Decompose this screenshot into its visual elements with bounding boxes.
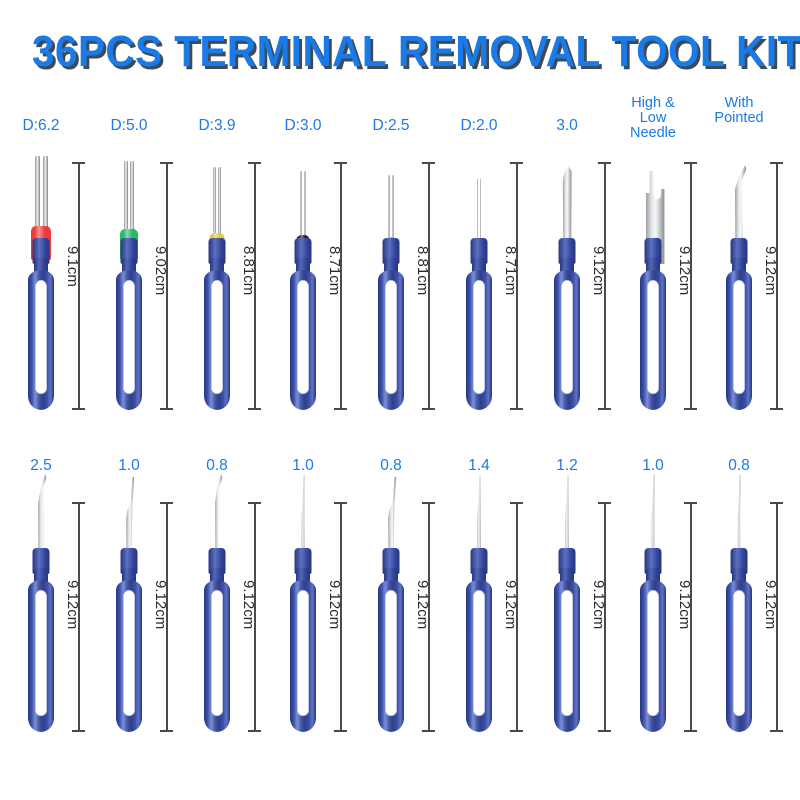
dimension-cap-top bbox=[510, 162, 523, 164]
tool-1-7: 3.09.12cm bbox=[536, 118, 622, 420]
dimension-line: 8.81cm bbox=[248, 162, 272, 410]
dimension-cap-bottom bbox=[598, 730, 611, 732]
steel-prong-right bbox=[392, 175, 394, 245]
dimension-text: 9.02cm bbox=[152, 246, 169, 295]
dimension-cap-top bbox=[248, 502, 261, 504]
dimension-cap-top bbox=[598, 162, 611, 164]
tool-label: D:6.2 bbox=[10, 118, 72, 133]
tool-label: D:3.0 bbox=[272, 118, 334, 133]
handle-hole bbox=[561, 590, 573, 716]
steel-prong-left bbox=[477, 179, 479, 247]
tool-handle bbox=[378, 270, 404, 410]
dimension-text: 9.12cm bbox=[590, 246, 607, 295]
tool-art bbox=[10, 500, 72, 732]
steel-prong-right bbox=[43, 156, 48, 234]
tool-2-6: 1.49.12cm bbox=[448, 458, 534, 742]
handle-hole bbox=[123, 590, 135, 716]
steel-prong-right bbox=[480, 179, 482, 247]
tool-2-4: 1.09.12cm bbox=[272, 458, 358, 742]
dimension-text: 9.12cm bbox=[762, 580, 779, 629]
dimension-cap-bottom bbox=[598, 408, 611, 410]
dimension-cap-top bbox=[684, 162, 697, 164]
tool-art bbox=[536, 500, 598, 732]
dimension-cap-bottom bbox=[334, 730, 347, 732]
tool-handle bbox=[466, 270, 492, 410]
dimension-line: 9.12cm bbox=[510, 502, 534, 732]
dimension-line: 9.12cm bbox=[770, 162, 794, 410]
dimension-cap-bottom bbox=[72, 730, 85, 732]
dimension-line: 9.12cm bbox=[72, 502, 96, 732]
product-image: 36PCS TERMINAL REMOVAL TOOL KIT D:6.29.1… bbox=[0, 0, 800, 800]
tool-handle bbox=[290, 580, 316, 732]
tool-label: D:2.5 bbox=[360, 118, 422, 133]
tool-handle bbox=[116, 270, 142, 410]
tool-art bbox=[536, 160, 598, 410]
handle-hole bbox=[297, 590, 309, 716]
tool-art bbox=[622, 500, 684, 732]
dimension-cap-top bbox=[422, 502, 435, 504]
tool-2-8: 1.09.12cm bbox=[622, 458, 708, 742]
handle-hole bbox=[35, 280, 47, 394]
dimension-text: 9.12cm bbox=[676, 580, 693, 629]
tool-2-9: 0.89.12cm bbox=[708, 458, 794, 742]
handle-hole bbox=[561, 280, 573, 394]
tool-label: D:3.9 bbox=[186, 118, 248, 133]
dimension-line: 8.71cm bbox=[510, 162, 534, 410]
steel-prong-left bbox=[35, 156, 40, 234]
dimension-line: 8.81cm bbox=[422, 162, 446, 410]
dimension-text: 9.12cm bbox=[414, 580, 431, 629]
tool-handle bbox=[640, 580, 666, 732]
dimension-text: 9.1cm bbox=[64, 246, 81, 287]
handle-hole bbox=[385, 280, 397, 394]
tool-1-2: D:5.09.02cm bbox=[98, 118, 184, 420]
steel-prong-left bbox=[124, 161, 128, 237]
tool-label: With Pointed bbox=[708, 96, 770, 126]
dimension-line: 9.12cm bbox=[770, 502, 794, 732]
dimension-text: 8.81cm bbox=[414, 246, 431, 295]
page-title: 36PCS TERMINAL REMOVAL TOOL KIT bbox=[32, 30, 768, 74]
dimension-cap-bottom bbox=[770, 730, 783, 732]
dimension-cap-top bbox=[248, 162, 261, 164]
tool-1-9: With Pointed9.12cm bbox=[708, 118, 794, 420]
steel-prong-left bbox=[388, 175, 390, 245]
dimension-cap-top bbox=[422, 162, 435, 164]
dimension-cap-bottom bbox=[160, 408, 173, 410]
dimension-line: 9.12cm bbox=[598, 162, 622, 410]
tool-art bbox=[98, 500, 160, 732]
dimension-cap-top bbox=[160, 162, 173, 164]
dimension-cap-bottom bbox=[72, 408, 85, 410]
handle-hole bbox=[385, 590, 397, 716]
handle-hole bbox=[123, 280, 135, 394]
tool-art bbox=[98, 160, 160, 410]
dimension-text: 9.12cm bbox=[152, 580, 169, 629]
dimension-cap-top bbox=[334, 502, 347, 504]
tool-handle bbox=[28, 270, 54, 410]
dimension-cap-top bbox=[598, 502, 611, 504]
tool-1-1: D:6.29.1cm bbox=[10, 118, 96, 420]
dimension-cap-bottom bbox=[422, 408, 435, 410]
tool-label: High & Low Needle bbox=[622, 96, 684, 141]
tool-art bbox=[708, 160, 770, 410]
handle-hole bbox=[647, 590, 659, 716]
dimension-text: 8.71cm bbox=[502, 246, 519, 295]
tool-art bbox=[360, 500, 422, 732]
dimension-cap-top bbox=[684, 502, 697, 504]
dimension-text: 9.12cm bbox=[502, 580, 519, 629]
dimension-text: 9.12cm bbox=[676, 246, 693, 295]
dimension-cap-top bbox=[510, 502, 523, 504]
dimension-cap-top bbox=[160, 502, 173, 504]
dimension-cap-bottom bbox=[510, 730, 523, 732]
handle-hole bbox=[473, 280, 485, 394]
steel-prong-right bbox=[130, 161, 134, 237]
tool-handle bbox=[116, 580, 142, 732]
dimension-line: 9.12cm bbox=[160, 502, 184, 732]
dimension-cap-bottom bbox=[770, 408, 783, 410]
handle-hole bbox=[647, 280, 659, 394]
tool-label: D:2.0 bbox=[448, 118, 510, 133]
dimension-text: 8.81cm bbox=[240, 246, 257, 295]
handle-hole bbox=[35, 590, 47, 716]
tool-label: D:5.0 bbox=[98, 118, 160, 133]
dimension-text: 9.12cm bbox=[326, 580, 343, 629]
tool-1-8: High & Low Needle9.12cm bbox=[622, 118, 708, 420]
tool-1-6: D:2.08.71cm bbox=[448, 118, 534, 420]
tool-art bbox=[448, 160, 510, 410]
tool-handle bbox=[28, 580, 54, 732]
dimension-text: 9.12cm bbox=[762, 246, 779, 295]
tool-1-5: D:2.58.81cm bbox=[360, 118, 446, 420]
handle-hole bbox=[473, 590, 485, 716]
tool-art bbox=[448, 500, 510, 732]
tool-art bbox=[272, 500, 334, 732]
dimension-text: 9.12cm bbox=[64, 580, 81, 629]
tool-art bbox=[622, 160, 684, 410]
tool-art bbox=[186, 500, 248, 732]
tool-2-5: 0.89.12cm bbox=[360, 458, 446, 742]
dimension-line: 9.12cm bbox=[598, 502, 622, 732]
tool-handle bbox=[726, 270, 752, 410]
dimension-line: 9.12cm bbox=[422, 502, 446, 732]
dimension-cap-bottom bbox=[160, 730, 173, 732]
tool-handle bbox=[204, 580, 230, 732]
tool-handle bbox=[640, 270, 666, 410]
dimension-cap-bottom bbox=[248, 408, 261, 410]
tool-art bbox=[708, 500, 770, 732]
dimension-cap-bottom bbox=[684, 408, 697, 410]
handle-hole bbox=[211, 280, 223, 394]
handle-hole bbox=[297, 280, 309, 394]
dimension-text: 9.12cm bbox=[590, 580, 607, 629]
dimension-cap-bottom bbox=[422, 730, 435, 732]
tool-label: 3.0 bbox=[536, 118, 598, 133]
dimension-cap-bottom bbox=[248, 730, 261, 732]
dimension-cap-top bbox=[770, 162, 783, 164]
steel-prong-right bbox=[304, 171, 306, 243]
steel-prong-right bbox=[218, 167, 221, 241]
tool-handle bbox=[204, 270, 230, 410]
handle-hole bbox=[733, 280, 745, 394]
dimension-line: 9.02cm bbox=[160, 162, 184, 410]
tool-art bbox=[186, 160, 248, 410]
tool-2-3: 0.89.12cm bbox=[186, 458, 272, 742]
tool-1-3: D:3.98.81cm bbox=[186, 118, 272, 420]
dimension-cap-bottom bbox=[510, 408, 523, 410]
dimension-line: 9.12cm bbox=[684, 502, 708, 732]
tool-1-4: D:3.08.71cm bbox=[272, 118, 358, 420]
tool-handle bbox=[290, 270, 316, 410]
dimension-cap-top bbox=[334, 162, 347, 164]
tool-handle bbox=[554, 580, 580, 732]
dimension-line: 9.12cm bbox=[248, 502, 272, 732]
tool-2-2: 1.09.12cm bbox=[98, 458, 184, 742]
dimension-text: 9.12cm bbox=[240, 580, 257, 629]
tool-2-7: 1.29.12cm bbox=[536, 458, 622, 742]
dimension-cap-bottom bbox=[684, 730, 697, 732]
tool-handle bbox=[726, 580, 752, 732]
dimension-text: 8.71cm bbox=[326, 246, 343, 295]
dimension-line: 9.12cm bbox=[334, 502, 358, 732]
tool-art bbox=[272, 160, 334, 410]
dimension-line: 8.71cm bbox=[334, 162, 358, 410]
dimension-cap-top bbox=[72, 162, 85, 164]
dimension-cap-bottom bbox=[334, 408, 347, 410]
tool-handle bbox=[554, 270, 580, 410]
handle-hole bbox=[211, 590, 223, 716]
handle-hole bbox=[733, 590, 745, 716]
dimension-line: 9.12cm bbox=[684, 162, 708, 410]
dimension-cap-top bbox=[72, 502, 85, 504]
steel-prong-left bbox=[300, 171, 302, 243]
steel-prong-left bbox=[213, 167, 216, 241]
tool-art bbox=[360, 160, 422, 410]
dimension-line: 9.1cm bbox=[72, 162, 96, 410]
tool-2-1: 2.59.12cm bbox=[10, 458, 96, 742]
tool-handle bbox=[378, 580, 404, 732]
tool-art bbox=[10, 160, 72, 410]
dimension-cap-top bbox=[770, 502, 783, 504]
tool-handle bbox=[466, 580, 492, 732]
